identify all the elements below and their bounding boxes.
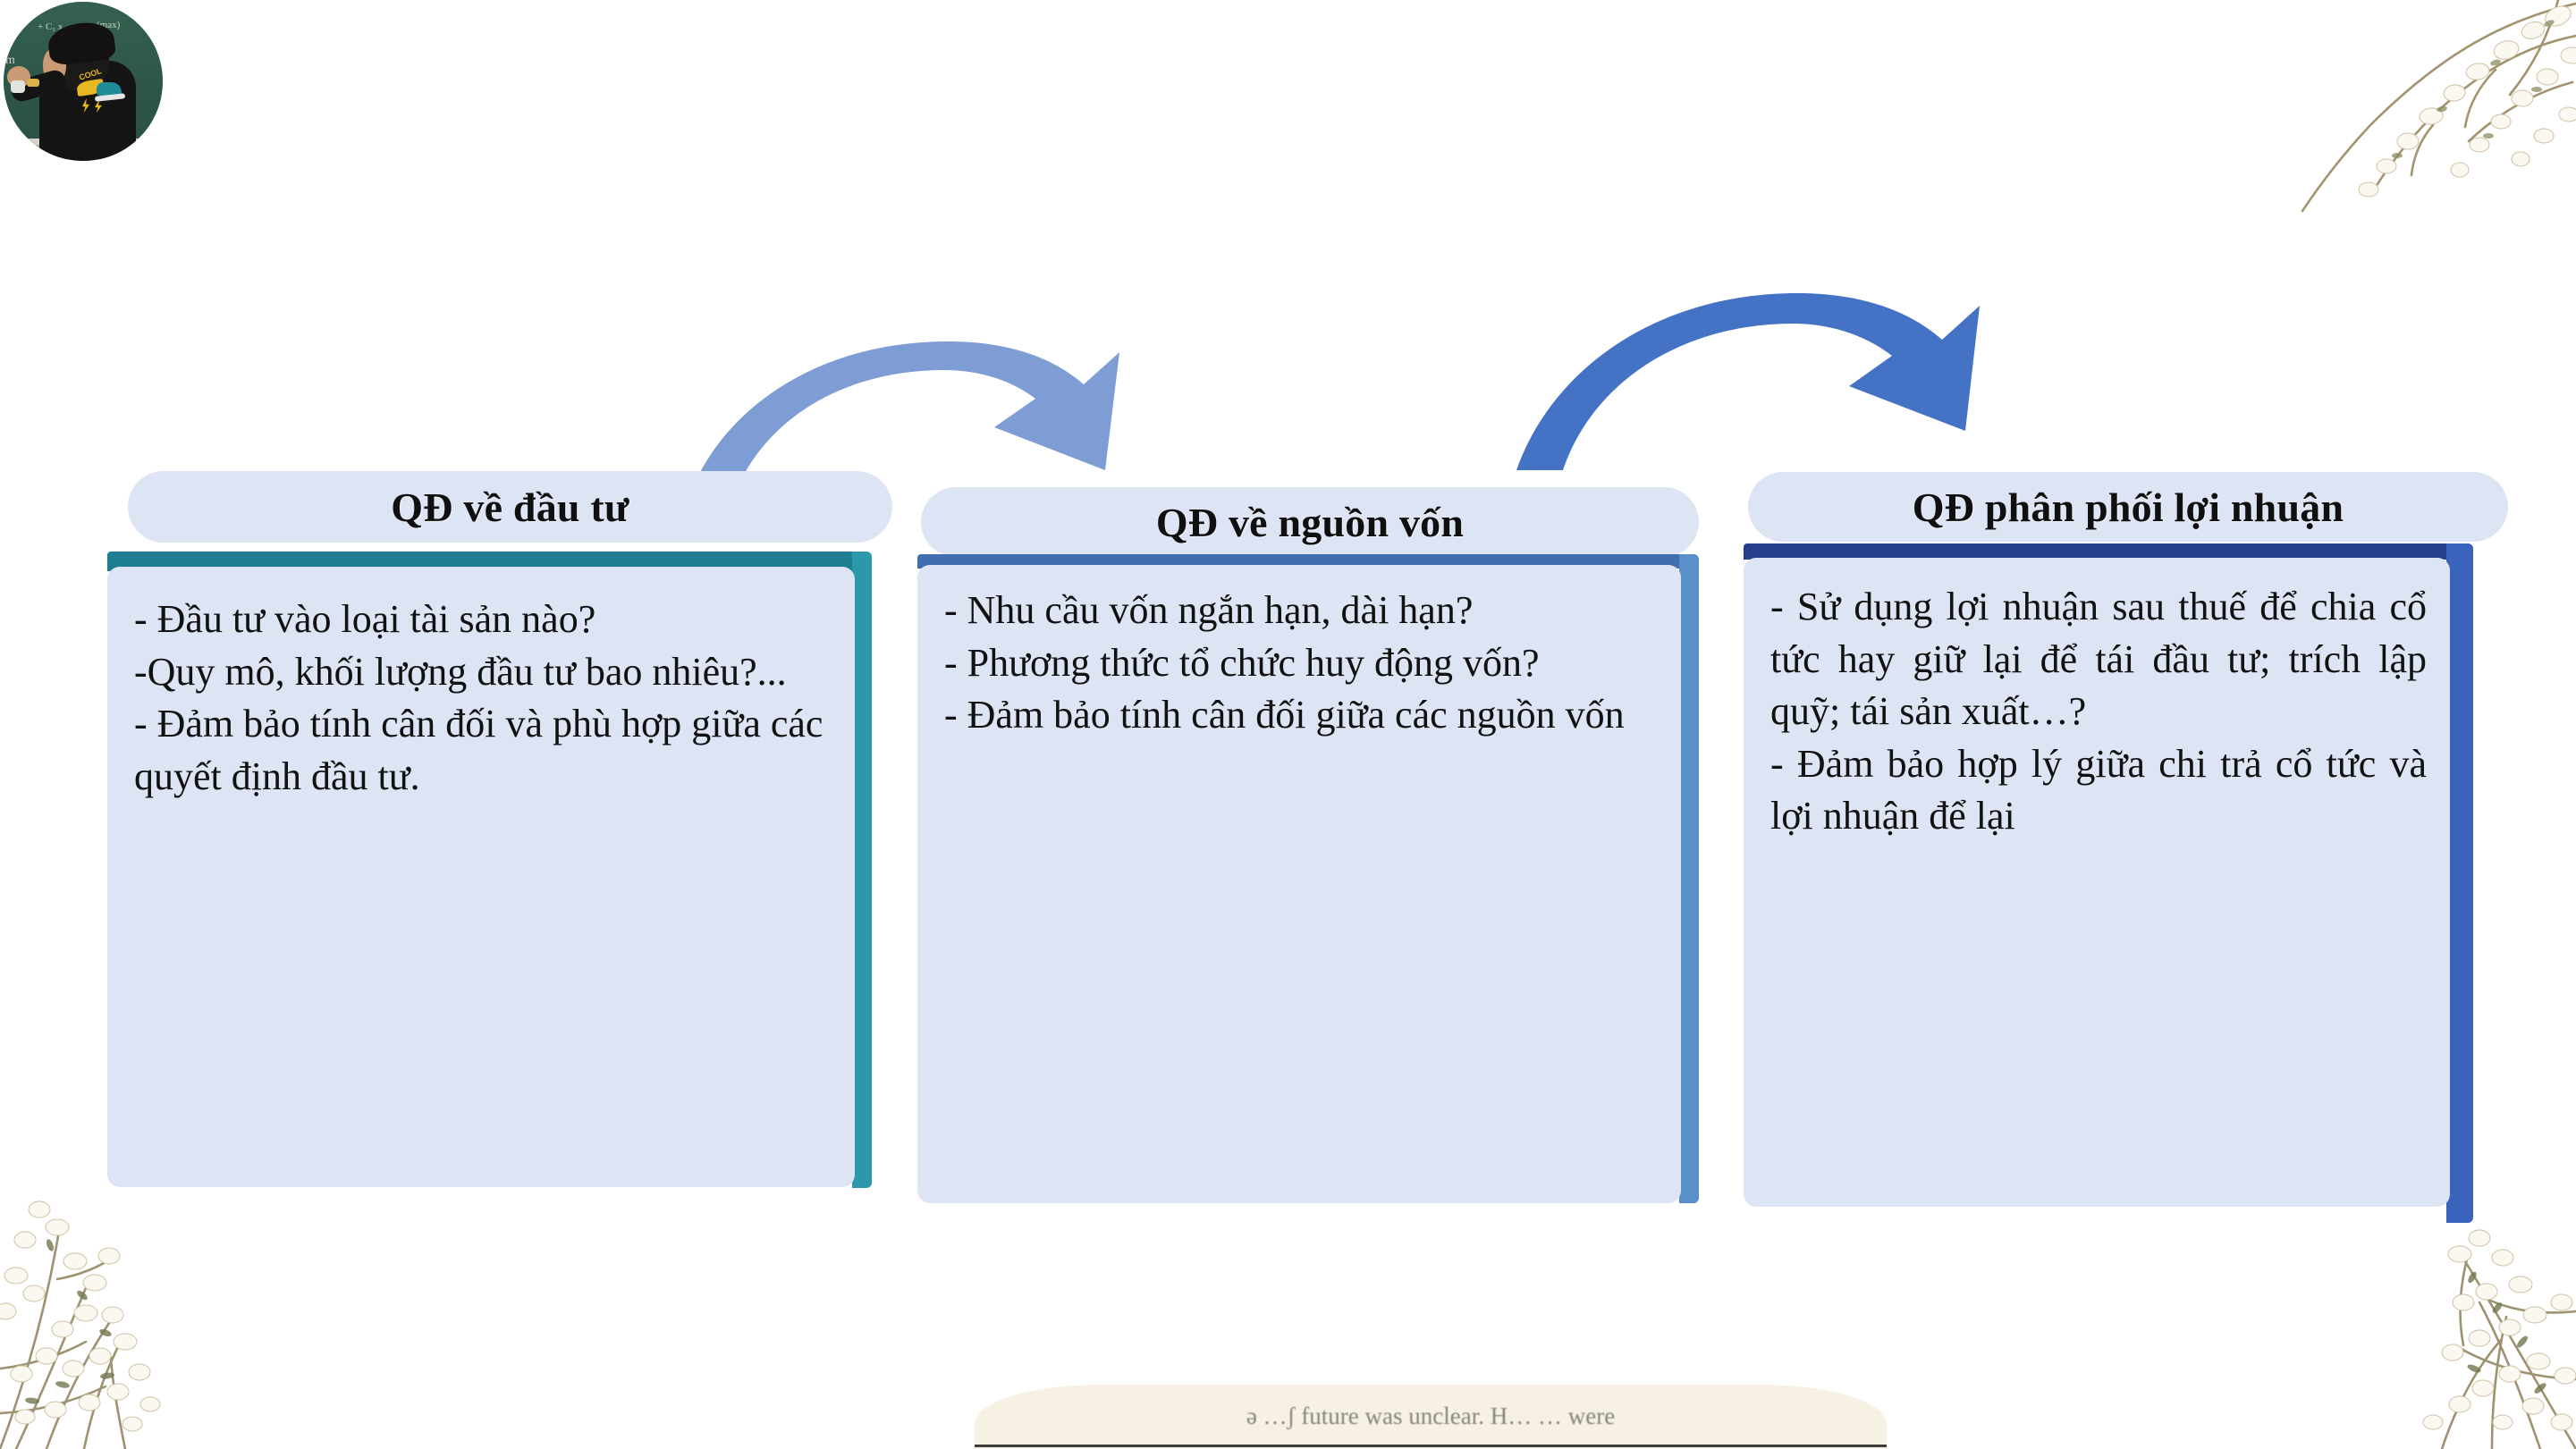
arrow-card2-to-card3 (1511, 268, 2012, 474)
flower-svg-bottom-left (0, 1145, 304, 1449)
card-investment-line-1: - Đầu tư vào loại tài sản nào? (134, 594, 824, 646)
accent-bar-side (852, 552, 872, 1188)
card-capital-source-line-3: - Đảm bảo tính cân đối giữa các nguồn vố… (944, 689, 1654, 742)
presenter-watch (27, 79, 39, 87)
flower-svg-top-right (2075, 0, 2576, 295)
card-capital-source-header: QĐ về nguồn vốn (921, 487, 1699, 557)
card-profit-distribution-line-2: - Đảm bảo hợp lý giữa chi trả cổ tức và … (1770, 738, 2427, 843)
chalk-text-3: m (5, 54, 15, 68)
card-investment-body: - Đầu tư vào loại tài sản nào? -Quy mô, … (107, 567, 855, 1187)
dried-flower-bottom-left (0, 1145, 304, 1449)
accent-bar-side (2446, 543, 2473, 1223)
background-page-text: ə …ʃ future was unclear. H… … were (975, 1403, 1887, 1430)
dried-flower-top-right (2075, 0, 2576, 295)
presenter-webcam[interactable]: + C₁ x (max) m COOL (4, 2, 163, 161)
card-investment-header: QĐ về đầu tư (128, 471, 892, 543)
card-profit-distribution-header: QĐ phân phối lợi nhuận (1748, 472, 2508, 542)
card-investment-line-2: -Quy mô, khối lượng đầu tư bao nhiêu?... (134, 646, 824, 699)
card-profit-distribution-line-1: - Sử dụng lợi nhuận sau thuế để chia cổ … (1770, 581, 2427, 738)
card-profit-distribution-body: - Sử dụng lợi nhuận sau thuế để chia cổ … (1744, 558, 2450, 1207)
slide-canvas: ə …ʃ future was unclear. H… … were (0, 0, 2576, 1449)
accent-bar-side (1679, 554, 1699, 1203)
chalk-piece (11, 80, 25, 93)
card-capital-source-line-1: - Nhu cầu vốn ngắn hạn, dài hạn? (944, 585, 1654, 637)
card-capital-source-body: - Nhu cầu vốn ngắn hạn, dài hạn? - Phươn… (917, 565, 1681, 1203)
background-page-rule (975, 1445, 1887, 1447)
card-investment-line-3: - Đảm bảo tính cân đối và phù hợp giữa c… (134, 698, 824, 803)
shirt-sneaker-logo: COOL (77, 68, 125, 109)
background-book-page: ə …ʃ future was unclear. H… … were (975, 1385, 1887, 1449)
card-capital-source-line-2: - Phương thức tổ chức huy động vốn? (944, 637, 1654, 690)
